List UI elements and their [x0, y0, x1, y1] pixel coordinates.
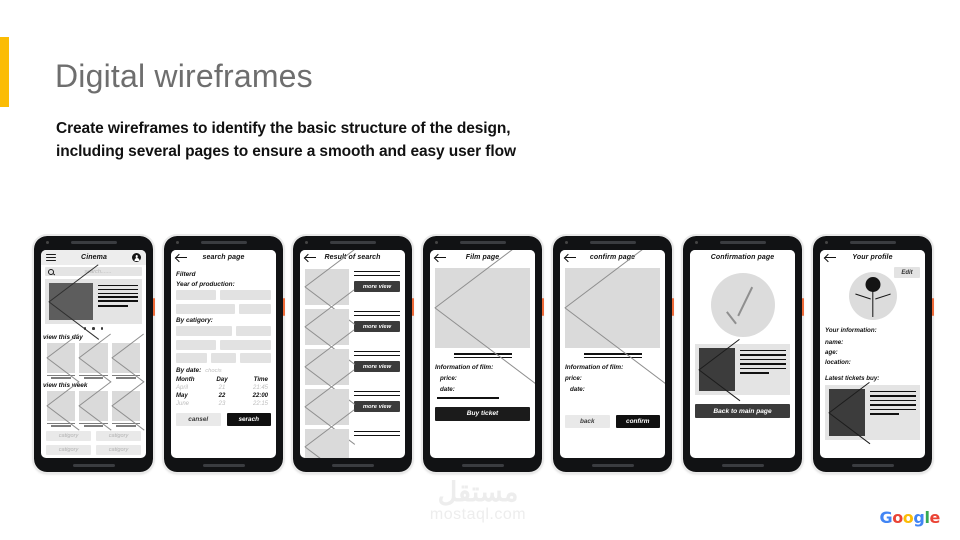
google-logo: Google [879, 508, 940, 527]
field-row [176, 353, 271, 363]
filter-chip[interactable] [220, 340, 271, 350]
edit-button[interactable]: Edit [894, 267, 920, 278]
filter-chip[interactable] [176, 340, 216, 350]
speaker-grille [201, 241, 247, 244]
avatar-head-icon [865, 277, 880, 292]
filter-chip[interactable] [239, 304, 271, 314]
cell-time: 22:00 [237, 393, 271, 399]
by-date-hint: chocis [205, 368, 221, 374]
filter-chip[interactable] [176, 353, 207, 363]
cell-month: June [176, 401, 207, 407]
avatar-arm-icon [875, 294, 891, 300]
more-view-button[interactable]: more view [354, 281, 400, 292]
camera-icon [565, 241, 568, 244]
by-date-label: By date: [176, 367, 201, 374]
action-row: cansel serach [176, 413, 271, 426]
date-row[interactable]: June 23 22:15 [176, 401, 271, 407]
column-day: Day [207, 376, 238, 383]
app-bar-title: Your profile [840, 254, 905, 261]
phone-screen-confirm: confirm page Information of film: price:… [560, 250, 665, 458]
watermark-latin: mostaql.com [408, 506, 548, 524]
field-date: date: [440, 386, 530, 393]
result-row[interactable]: more view [300, 345, 405, 385]
cell-time: 22:15 [237, 401, 271, 407]
camera-icon [46, 241, 49, 244]
accent-bar [0, 37, 9, 107]
app-bar-title: Confirmation page [695, 254, 790, 261]
category-button[interactable]: catigory [96, 431, 141, 441]
speaker-grille [720, 241, 766, 244]
phone-mockup-results: Result of search more view more view [293, 236, 412, 472]
thumb-card[interactable] [47, 343, 75, 379]
section-title-week: view this week [43, 382, 141, 389]
latest-ticket-card[interactable] [825, 385, 920, 440]
power-button[interactable] [153, 298, 155, 316]
back-arrow-icon[interactable] [565, 254, 576, 262]
field-price: price: [565, 375, 660, 382]
field-row [176, 304, 271, 314]
phone-screen-results: Result of search more view more view [300, 250, 405, 458]
watermark-arabic: مستقل [408, 478, 548, 506]
film-title-bars [560, 353, 665, 358]
filter-chip[interactable] [236, 326, 271, 336]
bottom-grille [592, 464, 634, 467]
camera-icon [695, 241, 698, 244]
result-thumbnail [305, 309, 349, 345]
back-arrow-icon[interactable] [305, 254, 316, 262]
ticket-text-lines [870, 389, 916, 436]
category-button[interactable]: catigory [96, 445, 141, 455]
film-title-bars [430, 353, 535, 358]
back-to-main-button[interactable]: Back to main page [695, 404, 790, 418]
field-age: age: [825, 349, 920, 356]
divider [437, 397, 499, 398]
field-row [176, 340, 271, 350]
filter-chip[interactable] [176, 290, 216, 300]
logo-letter: o [903, 508, 914, 527]
cell-month: May [176, 393, 207, 399]
search-icon [48, 269, 54, 275]
avatar-arm-icon [855, 294, 871, 300]
camera-icon [825, 241, 828, 244]
thumb-card[interactable] [112, 343, 140, 379]
camera-icon [305, 241, 308, 244]
film-poster-placeholder [565, 268, 660, 348]
field-date: date: [570, 386, 660, 393]
result-row[interactable]: more view [300, 265, 405, 305]
ticket-image-placeholder [829, 389, 865, 436]
watermark: مستقل mostaql.com [408, 478, 548, 524]
field-row [176, 326, 271, 336]
power-button[interactable] [283, 298, 285, 316]
cell-day: 22 [207, 393, 238, 399]
thumb-card[interactable] [112, 391, 140, 427]
app-bar: search page [171, 250, 276, 265]
film-poster-placeholder [435, 268, 530, 348]
thumb-card[interactable] [47, 391, 75, 427]
result-thumbnail [305, 429, 349, 458]
filter-chip[interactable] [240, 353, 271, 363]
ticket-text-lines [740, 348, 786, 391]
avatar [849, 272, 897, 320]
logo-letter: G [879, 508, 892, 527]
more-view-button[interactable]: more view [354, 361, 400, 372]
logo-letter: g [913, 508, 924, 527]
hero-image-placeholder [49, 283, 93, 320]
avatar-body-icon [872, 291, 873, 317]
thumb-row-week [46, 391, 141, 427]
bottom-grille [722, 464, 764, 467]
back-arrow-icon[interactable] [435, 254, 446, 262]
phone-mockup-confirmation: Confirmation page Back to main page [683, 236, 802, 472]
category-button[interactable]: catigory [46, 431, 91, 441]
phone-mockup-confirm: confirm page Information of film: price:… [553, 236, 672, 472]
field-name: name: [825, 339, 920, 346]
speaker-grille [330, 241, 376, 244]
hamburger-icon[interactable] [46, 254, 56, 261]
filter-chip[interactable] [176, 326, 232, 336]
back-button[interactable]: back [565, 415, 610, 428]
app-bar-title: Result of search [320, 254, 385, 261]
bottom-grille [203, 464, 245, 467]
ticket-image-placeholder [699, 348, 735, 391]
confirm-button[interactable]: confirm [616, 415, 661, 428]
app-bar: Cinema [41, 250, 146, 265]
app-bar: confirm page [560, 250, 665, 265]
speaker-grille [850, 241, 896, 244]
phone-mockup-film: Film page Information of film: price: da… [423, 236, 542, 472]
field-price: price: [440, 375, 530, 382]
bottom-grille [332, 464, 374, 467]
app-bar-title: Cinema [60, 254, 128, 261]
cell-day: 21 [207, 385, 238, 391]
date-row-selected[interactable]: May 22 22:00 [176, 393, 271, 399]
slide-canvas: Digital wireframes Create wireframes to … [0, 0, 960, 540]
info-heading: Your information: [825, 327, 920, 334]
speaker-grille [71, 241, 117, 244]
field-location: location: [825, 359, 920, 366]
field-row [176, 290, 271, 300]
app-bar: Film page [430, 250, 535, 265]
page-subtitle: Create wireframes to identify the basic … [56, 117, 536, 163]
tickets-heading: Latest tickets buy: [825, 375, 920, 382]
power-button[interactable] [802, 298, 804, 316]
cell-day: 23 [207, 401, 238, 407]
result-thumbnail [305, 349, 349, 385]
date-table-header: Month Day Time [176, 376, 271, 383]
hero-text-lines [98, 283, 138, 320]
carousel-dots[interactable] [41, 324, 146, 331]
power-button[interactable] [412, 298, 414, 316]
group-label-category: By catigory: [176, 317, 271, 324]
action-row: back confirm [560, 415, 665, 428]
app-bar-title: search page [191, 254, 256, 261]
column-month: Month [176, 376, 207, 383]
filter-chip[interactable] [211, 353, 236, 363]
result-row[interactable]: more view [300, 385, 405, 425]
app-bar: Confirmation page [690, 250, 795, 265]
back-arrow-icon[interactable] [825, 254, 836, 262]
speaker-grille [590, 241, 636, 244]
phone-screen-confirmation: Confirmation page Back to main page [690, 250, 795, 458]
app-bar: Your profile [820, 250, 925, 265]
page-title: Digital wireframes [55, 58, 313, 95]
logo-letter: e [930, 508, 940, 527]
filter-chip[interactable] [220, 290, 271, 300]
phone-body: Cinema search....... view this day [34, 236, 153, 472]
bottom-grille [462, 464, 504, 467]
thumb-card[interactable] [79, 391, 107, 427]
more-view-button[interactable]: more view [354, 321, 400, 332]
phone-screen-film: Film page Information of film: price: da… [430, 250, 535, 458]
power-button[interactable] [672, 298, 674, 316]
group-label-year: Year of production: [176, 281, 271, 288]
check-icon [711, 273, 775, 337]
bottom-grille [852, 464, 894, 467]
result-row[interactable]: more view [300, 305, 405, 345]
back-arrow-icon[interactable] [176, 254, 187, 262]
power-button[interactable] [542, 298, 544, 316]
result-thumbnail [305, 389, 349, 425]
avatar-icon[interactable] [132, 253, 141, 262]
ticket-summary-card [695, 344, 790, 395]
camera-icon [176, 241, 179, 244]
column-time: Time [237, 376, 271, 383]
cell-month: April [176, 385, 207, 391]
bottom-grille [73, 464, 115, 467]
app-bar: Result of search [300, 250, 405, 265]
logo-letter: o [892, 508, 903, 527]
cell-time: 21:45 [237, 385, 271, 391]
filter-chip[interactable] [176, 304, 235, 314]
category-button[interactable]: catigory [46, 445, 91, 455]
more-view-button[interactable]: more view [354, 401, 400, 412]
phone-screen-profile: Your profile Edit Your information: name… [820, 250, 925, 458]
camera-icon [435, 241, 438, 244]
buy-ticket-button[interactable]: Buy ticket [435, 407, 530, 421]
phone-screen-home: Cinema search....... view this day [41, 250, 146, 458]
hero-card[interactable] [45, 279, 142, 324]
speaker-grille [460, 241, 506, 244]
phone-mockup-search: search page Filterd Year of production: … [164, 236, 283, 472]
search-placeholder: search....... [57, 269, 139, 275]
phone-mockup-home: Cinema search....... view this day [34, 236, 153, 472]
result-thumbnail [305, 269, 349, 305]
power-button[interactable] [932, 298, 934, 316]
phone-screen-search: search page Filterd Year of production: … [171, 250, 276, 458]
filter-label: Filterd [176, 271, 271, 278]
phone-mockup-profile: Your profile Edit Your information: name… [813, 236, 932, 472]
search-button[interactable]: serach [227, 413, 272, 426]
thumb-row-day [46, 343, 141, 379]
category-row: catigory catigory [46, 445, 141, 455]
thumb-card[interactable] [79, 343, 107, 379]
cancel-button[interactable]: cansel [176, 413, 221, 426]
date-row[interactable]: April 21 21:45 [176, 385, 271, 391]
category-row: catigory catigory [46, 431, 141, 441]
